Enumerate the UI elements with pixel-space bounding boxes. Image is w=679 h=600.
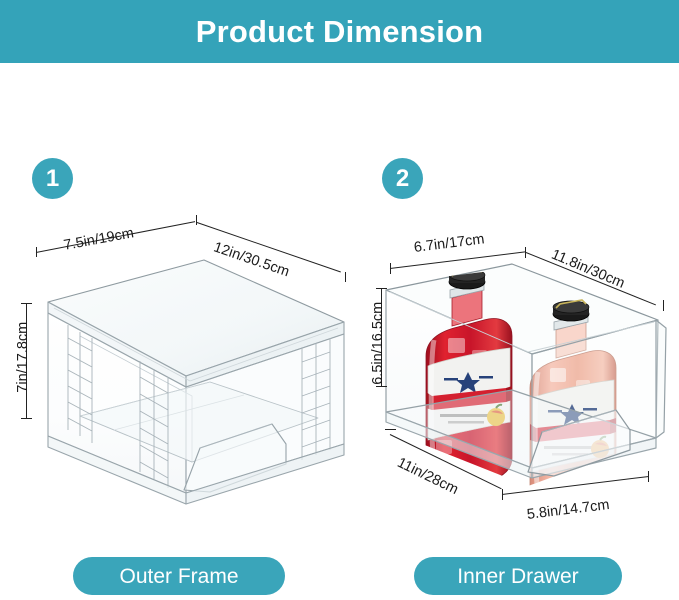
measure-tick-left-width-end <box>196 215 197 225</box>
measure-tick-right-width-start <box>390 263 391 274</box>
header-banner: Product Dimension <box>0 0 679 63</box>
measure-tick-right-side-start <box>385 429 396 430</box>
measure-tick-left-height-bottom <box>21 418 32 419</box>
step-badge-2-label: 2 <box>396 167 409 191</box>
outer-frame-svg <box>14 248 350 518</box>
step-badge-1: 1 <box>32 158 73 199</box>
measure-tick-left-height-top <box>21 303 32 304</box>
measure-tick-left-width-start <box>36 247 37 257</box>
caption-label-outer-frame: Outer Frame <box>119 566 238 587</box>
dim-label-outer-height: 7in/17.8cm <box>16 314 31 400</box>
measure-tick-right-front-end <box>648 471 649 482</box>
caption-pill-outer-frame: Outer Frame <box>73 557 285 595</box>
dim-label-inner-width: 6.7in/17cm <box>413 232 485 255</box>
caption-label-inner-drawer: Inner Drawer <box>457 566 578 587</box>
outer-frame-illustration <box>14 248 350 518</box>
measure-tick-left-depth-end <box>345 272 346 282</box>
product-dimension-infographic: Product Dimension 1 2 <box>0 0 679 600</box>
page-title: Product Dimension <box>196 16 484 47</box>
measure-tick-right-front-start <box>502 489 503 500</box>
measure-tick-right-height-top <box>376 288 387 289</box>
step-badge-1-label: 1 <box>46 167 59 191</box>
measure-tick-right-depth-end <box>663 300 664 311</box>
dim-label-inner-height: 6.5in/16.5cm <box>371 297 386 389</box>
caption-pill-inner-drawer: Inner Drawer <box>414 557 622 595</box>
step-badge-2: 2 <box>382 158 423 199</box>
